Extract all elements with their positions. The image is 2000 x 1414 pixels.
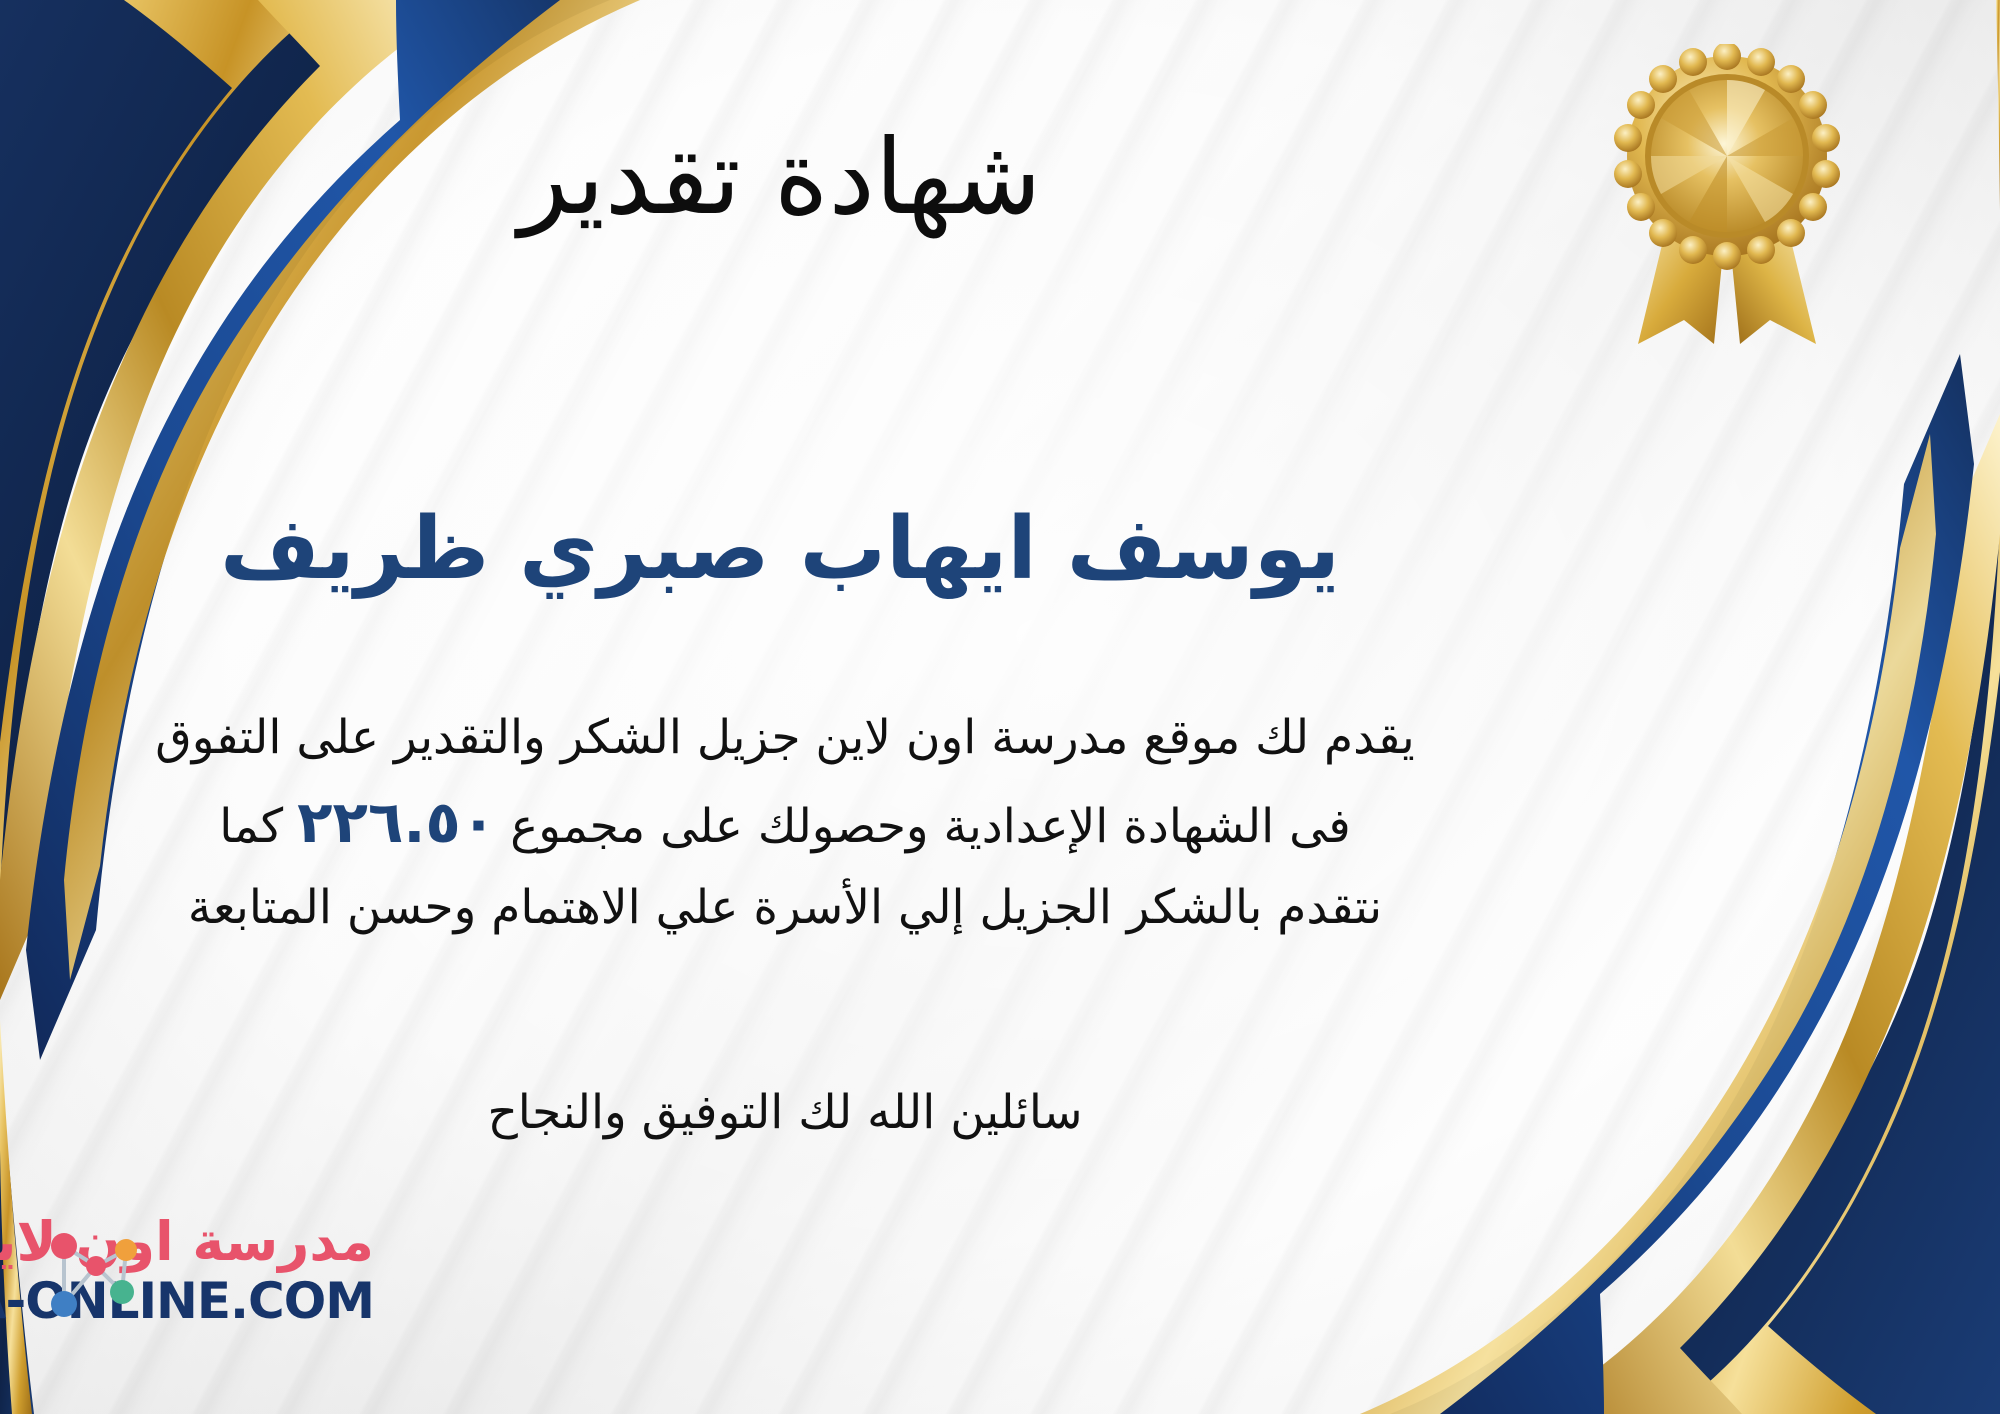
site-logo[interactable]: مدرسة اون لاين MADRSA-ONLINE.COM bbox=[22, 1206, 492, 1356]
body-line-1: يقدم لك موقع مدرسة اون لاين جزيل الشكر و… bbox=[40, 700, 1530, 776]
total-score-value: ٢٢٦.٥٠ bbox=[283, 776, 510, 870]
body-line-2-suffix: كما bbox=[219, 799, 283, 854]
closing-line: سائلين الله لك التوفيق والنجاح bbox=[40, 1085, 1530, 1140]
body-line-2: فى الشهادة الإعدادية وحصولك على مجموع٢٢٦… bbox=[40, 776, 1530, 870]
page-title: شهادة تقدير bbox=[0, 120, 1560, 234]
student-name: يوسف ايهاب صبري ظريف bbox=[0, 500, 1560, 599]
certificate-page: شهادة تقدير يوسف ايهاب صبري ظريف يقدم لك… bbox=[0, 0, 2000, 1414]
body-line-3: نتقدم بالشكر الجزيل إلي الأسرة علي الاهت… bbox=[40, 870, 1530, 946]
node-graph-icon bbox=[34, 1216, 144, 1334]
body-line-2-prefix: فى الشهادة الإعدادية وحصولك على مجموع bbox=[510, 799, 1351, 854]
certificate-body: يقدم لك موقع مدرسة اون لاين جزيل الشكر و… bbox=[40, 700, 1530, 946]
